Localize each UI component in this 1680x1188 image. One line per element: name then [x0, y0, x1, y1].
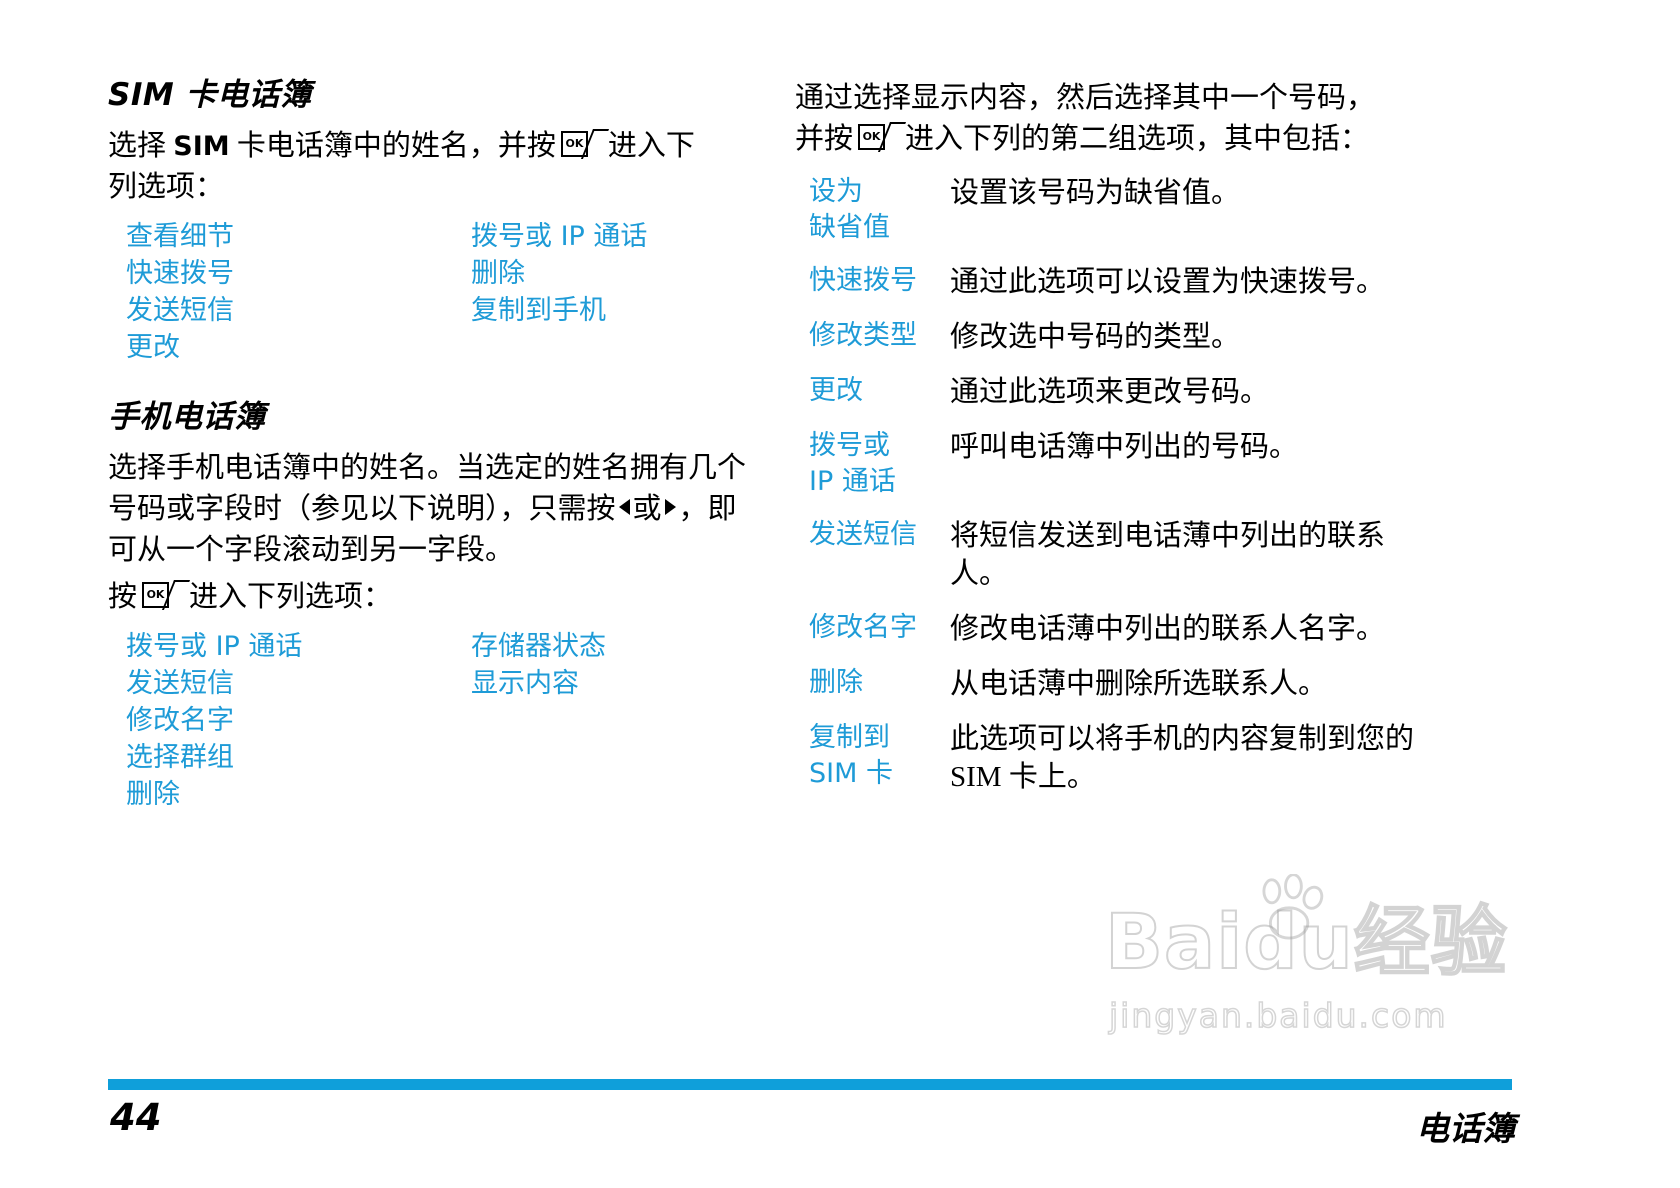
- definition-row: 复制到 SIM 卡 此选项可以将手机的内容复制到您的 SIM 卡上。: [795, 720, 1420, 796]
- ok-key-icon: OK: [142, 582, 184, 610]
- option-delete[interactable]: 删除: [126, 776, 471, 813]
- phone-phonebook-intro: 选择手机电话簿中的姓名。当选定的姓名拥有几个号码或字段时（参见以下说明），只需按…: [108, 448, 748, 571]
- press-suffix: 进入下列选项：: [189, 581, 392, 613]
- ok-key-icon: OK: [561, 131, 603, 159]
- heading-sim-phonebook: SIM 卡电话簿: [108, 78, 748, 112]
- option-row: 快速拨号 删除: [126, 255, 746, 292]
- definition-row: 删除 从电话薄中删除所选联系人。: [795, 665, 1420, 703]
- term-modify-name[interactable]: 修改名字: [795, 610, 950, 648]
- right-intro-line2-a: 并按: [795, 123, 853, 155]
- desc-speed-dial: 通过此选项可以设置为快速拨号。: [950, 263, 1420, 301]
- desc-send-sms: 将短信发送到电话薄中列出的联系人。: [950, 517, 1420, 593]
- option-send-sms[interactable]: 发送短信: [126, 665, 471, 702]
- manual-page: SIM 卡电话簿 选择 SIM 卡电话簿中的姓名，并按OK进入下 列选项： 查看…: [0, 0, 1680, 1188]
- desc-modify-name: 修改电话薄中列出的联系人名字。: [950, 610, 1420, 648]
- page-number: 44: [110, 1096, 162, 1139]
- desc-delete: 从电话薄中删除所选联系人。: [950, 665, 1420, 703]
- heading-phone-phonebook: 手机电话簿: [108, 400, 748, 434]
- option-delete[interactable]: 删除: [471, 255, 746, 292]
- phone-phonebook-press-line: 按OK进入下列选项：: [108, 577, 748, 618]
- desc-copy-to-sim: 此选项可以将手机的内容复制到您的 SIM 卡上。: [950, 720, 1420, 796]
- baidu-watermark-main: Baidu经验: [1105, 880, 1508, 990]
- term-delete[interactable]: 删除: [795, 665, 950, 703]
- term-modify[interactable]: 更改: [795, 373, 950, 411]
- desc-modify: 通过此选项来更改号码。: [950, 373, 1420, 411]
- option-modify-name[interactable]: 修改名字: [126, 702, 471, 739]
- definition-row: 更改 通过此选项来更改号码。: [795, 373, 1420, 411]
- definition-row: 修改名字 修改电话薄中列出的联系人名字。: [795, 610, 1420, 648]
- press-prefix: 按: [108, 581, 137, 613]
- phone-phonebook-option-list: 拨号或 IP 通话 存储器状态 发送短信 显示内容 修改名字 选择群组 删除: [126, 628, 746, 813]
- option-row: 删除: [126, 776, 746, 813]
- option-row: 选择群组: [126, 739, 746, 776]
- intro-latin-sim: SIM: [173, 131, 229, 162]
- option-modify[interactable]: 更改: [126, 329, 471, 366]
- right-column: 通过选择显示内容，然后选择其中一个号码， 并按OK进入下列的第二组选项，其中包括…: [795, 78, 1420, 813]
- option-row: 发送短信 复制到手机: [126, 292, 746, 329]
- option-empty: [471, 776, 746, 813]
- definition-row: 快速拨号 通过此选项可以设置为快速拨号。: [795, 263, 1420, 301]
- phone-intro-b: 或: [633, 493, 662, 525]
- option-select-group[interactable]: 选择群组: [126, 739, 471, 776]
- option-dial-or-ip-call[interactable]: 拨号或 IP 通话: [471, 218, 746, 255]
- option-show-content[interactable]: 显示内容: [471, 665, 746, 702]
- desc-dial-or-ip-call: 呼叫电话簿中列出的号码。: [950, 428, 1420, 500]
- definition-row: 设为 缺省值 设置该号码为缺省值。: [795, 174, 1420, 246]
- option-copy-to-phone[interactable]: 复制到手机: [471, 292, 746, 329]
- option-empty: [471, 329, 746, 366]
- footer-rule: [108, 1079, 1512, 1090]
- option-view-details[interactable]: 查看细节: [126, 218, 471, 255]
- ok-key-icon: OK: [858, 124, 900, 152]
- option-row: 更改: [126, 329, 746, 366]
- option-dial-or-ip-call[interactable]: 拨号或 IP 通话: [126, 628, 471, 665]
- term-dial-or-ip-call[interactable]: 拨号或 IP 通话: [795, 428, 950, 500]
- term-modify-type[interactable]: 修改类型: [795, 318, 950, 356]
- definition-row: 修改类型 修改选中号码的类型。: [795, 318, 1420, 356]
- desc-set-as-default: 设置该号码为缺省值。: [950, 174, 1420, 246]
- definition-row: 拨号或 IP 通话 呼叫电话簿中列出的号码。: [795, 428, 1420, 500]
- arrow-right-icon: [665, 499, 676, 515]
- intro-text-c: 进入下: [608, 130, 695, 162]
- option-speed-dial[interactable]: 快速拨号: [126, 255, 471, 292]
- option-send-sms[interactable]: 发送短信: [126, 292, 471, 329]
- intro-text-b: 卡电话簿中的姓名，并按: [230, 130, 556, 162]
- term-copy-to-sim[interactable]: 复制到 SIM 卡: [795, 720, 950, 796]
- option-row: 查看细节 拨号或 IP 通话: [126, 218, 746, 255]
- option-row: 发送短信 显示内容: [126, 665, 746, 702]
- arrow-left-icon: [619, 499, 630, 515]
- term-speed-dial[interactable]: 快速拨号: [795, 263, 950, 301]
- right-intro: 通过选择显示内容，然后选择其中一个号码， 并按OK进入下列的第二组选项，其中包括…: [795, 78, 1420, 160]
- option-empty: [471, 702, 746, 739]
- option-row: 修改名字: [126, 702, 746, 739]
- desc-modify-type: 修改选中号码的类型。: [950, 318, 1420, 356]
- term-set-as-default[interactable]: 设为 缺省值: [795, 174, 950, 246]
- sim-phonebook-option-list: 查看细节 拨号或 IP 通话 快速拨号 删除 发送短信 复制到手机 更改: [126, 218, 746, 366]
- second-options-definition-list: 设为 缺省值 设置该号码为缺省值。 快速拨号 通过此选项可以设置为快速拨号。 修…: [795, 174, 1420, 796]
- option-memory-status[interactable]: 存储器状态: [471, 628, 746, 665]
- left-column: SIM 卡电话簿 选择 SIM 卡电话簿中的姓名，并按OK进入下 列选项： 查看…: [108, 78, 748, 813]
- option-empty: [471, 739, 746, 776]
- right-intro-line1: 通过选择显示内容，然后选择其中一个号码，: [795, 82, 1375, 114]
- sim-phonebook-intro: 选择 SIM 卡电话簿中的姓名，并按OK进入下 列选项：: [108, 126, 748, 208]
- definition-row: 发送短信 将短信发送到电话薄中列出的联系人。: [795, 517, 1420, 593]
- chapter-name: 电话簿: [1416, 1102, 1515, 1150]
- intro-text-a: 选择: [108, 130, 173, 162]
- baidu-paw-icon: [1253, 874, 1331, 946]
- intro-text-line2: 列选项：: [108, 171, 224, 203]
- option-row: 拨号或 IP 通话 存储器状态: [126, 628, 746, 665]
- right-intro-line2-b: 进入下列的第二组选项，其中包括：: [905, 123, 1369, 155]
- term-send-sms[interactable]: 发送短信: [795, 517, 950, 593]
- baidu-watermark: Baidu经验 jingyan.baidu.com: [1105, 880, 1525, 1060]
- baidu-watermark-sub: jingyan.baidu.com: [1109, 996, 1448, 1035]
